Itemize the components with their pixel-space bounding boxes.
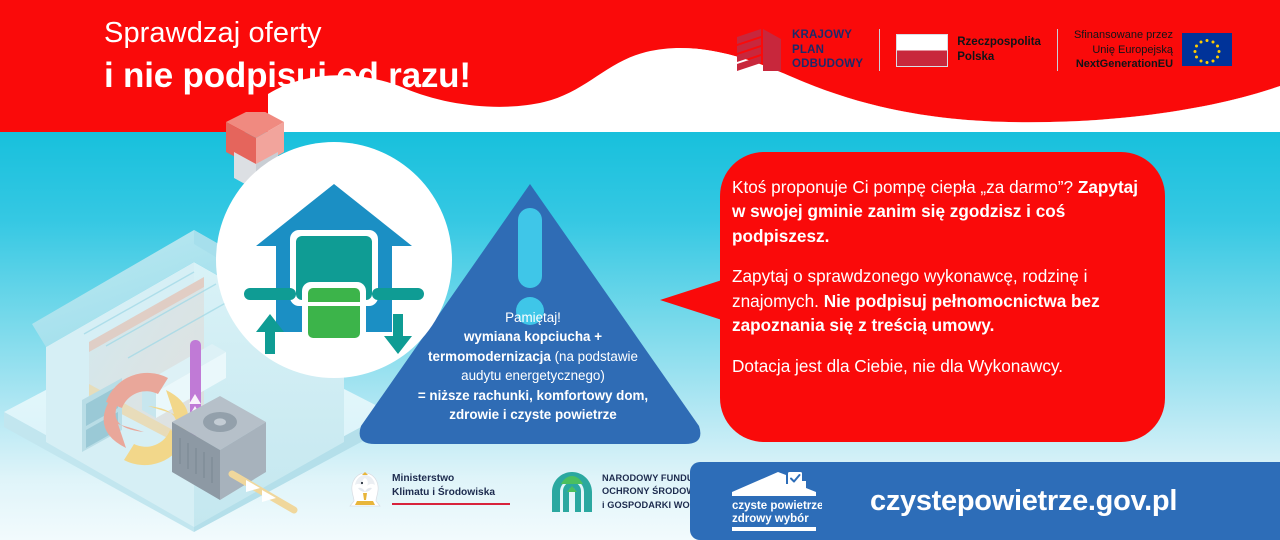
poland-logo-text: Rzeczpospolita Polska: [957, 35, 1041, 65]
kpo-chevron-mark-icon: [735, 27, 783, 73]
eu-line-1: Sfinansowane przez: [1074, 28, 1173, 43]
ministry-line-1: Ministerstwo: [392, 472, 510, 486]
eu-flag-icon: [1182, 33, 1232, 66]
ministry-text-block: Ministerstwo Klimatu i Środowiska: [392, 470, 510, 505]
bubble-tail: [660, 280, 722, 320]
eu-line-2: Unię Europejską: [1074, 43, 1173, 58]
kpo-logo: KRAJOWY PLAN ODBUDOWY: [735, 27, 863, 73]
poland-line-2: Polska: [957, 50, 1041, 65]
cp-logo-line-2: zdrowy wybór: [732, 513, 809, 525]
headline-line-2: i nie podpisuj od razu!: [104, 55, 471, 96]
triangle-line-1: Pamiętaj!: [398, 308, 668, 327]
bubble-p3-normal: Dotacja jest dla Ciebie, nie dla Wykonaw…: [732, 356, 1063, 376]
triangle-line-3-bold: termomodernizacja: [428, 349, 551, 364]
bubble-p1-normal: Ktoś proponuje Ci pompę ciepła „za darmo…: [732, 177, 1078, 197]
kpo-line-2: PLAN: [792, 43, 863, 57]
headline-block: Sprawdzaj oferty i nie podpisuj od razu!: [104, 16, 471, 97]
triangle-line-4: audytu energetycznego): [398, 366, 668, 385]
eu-logo: Sfinansowane przez Unię Europejską NextG…: [1074, 28, 1232, 72]
kpo-logo-text: KRAJOWY PLAN ODBUDOWY: [792, 28, 863, 71]
kpo-line-3: ODBUDOWY: [792, 57, 863, 71]
polish-eagle-emblem-icon: [345, 470, 385, 512]
polish-flag-icon: [896, 34, 948, 67]
triangle-line-5: = niższe rachunki, komfortowy dom,: [418, 388, 648, 403]
triangle-message: Pamiętaj! wymiana kopciucha + termomoder…: [398, 308, 668, 425]
top-logo-strip: KRAJOWY PLAN ODBUDOWY Rzeczpospolita Pol…: [735, 22, 1232, 78]
bubble-paragraph-2: Zapytaj o sprawdzonego wykonawcę, rodzin…: [732, 264, 1144, 337]
nfosigw-arch-icon: [550, 470, 594, 514]
bubble-message: Ktoś proponuje Ci pompę ciepła „za darmo…: [732, 175, 1144, 378]
headline-line-1: Sprawdzaj oferty: [104, 16, 471, 50]
eu-line-3: NextGenerationEU: [1074, 57, 1173, 72]
poland-line-1: Rzeczpospolita: [957, 35, 1041, 50]
ministry-line-2: Klimatu i Środowiska: [392, 486, 510, 500]
bubble-paragraph-3: Dotacja jest dla Ciebie, nie dla Wykonaw…: [732, 354, 1144, 378]
logo-divider-2: [1057, 29, 1058, 71]
footer-bar: czyste powietrze zdrowy wybór czystepowi…: [690, 462, 1280, 540]
triangle-line-2: wymiana kopciucha +: [464, 329, 602, 344]
bottom-logo-strip: Ministerstwo Klimatu i Środowiska NARODO…: [345, 470, 717, 514]
bubble-paragraph-1: Ktoś proponuje Ci pompę ciepła „za darmo…: [732, 175, 1144, 248]
poland-logo: Rzeczpospolita Polska: [896, 34, 1041, 67]
ministry-logo: Ministerstwo Klimatu i Środowiska: [345, 470, 510, 512]
czyste-powietrze-roof-check-icon: czyste powietrze zdrowy wybór: [726, 470, 822, 532]
kpo-line-1: KRAJOWY: [792, 28, 863, 42]
ministry-red-rule: [392, 503, 510, 505]
cp-logo-line-1: czyste powietrze: [732, 500, 822, 512]
campaign-banner: Pamiętaj! wymiana kopciucha + termomoder…: [0, 0, 1280, 540]
triangle-line-6: zdrowie i czyste powietrze: [449, 407, 616, 422]
eu-logo-text: Sfinansowane przez Unię Europejską NextG…: [1074, 28, 1173, 72]
triangle-line-3-rest: (na podstawie: [551, 349, 638, 364]
footer-url[interactable]: czystepowietrze.gov.pl: [870, 485, 1177, 518]
logo-divider-1: [879, 29, 880, 71]
